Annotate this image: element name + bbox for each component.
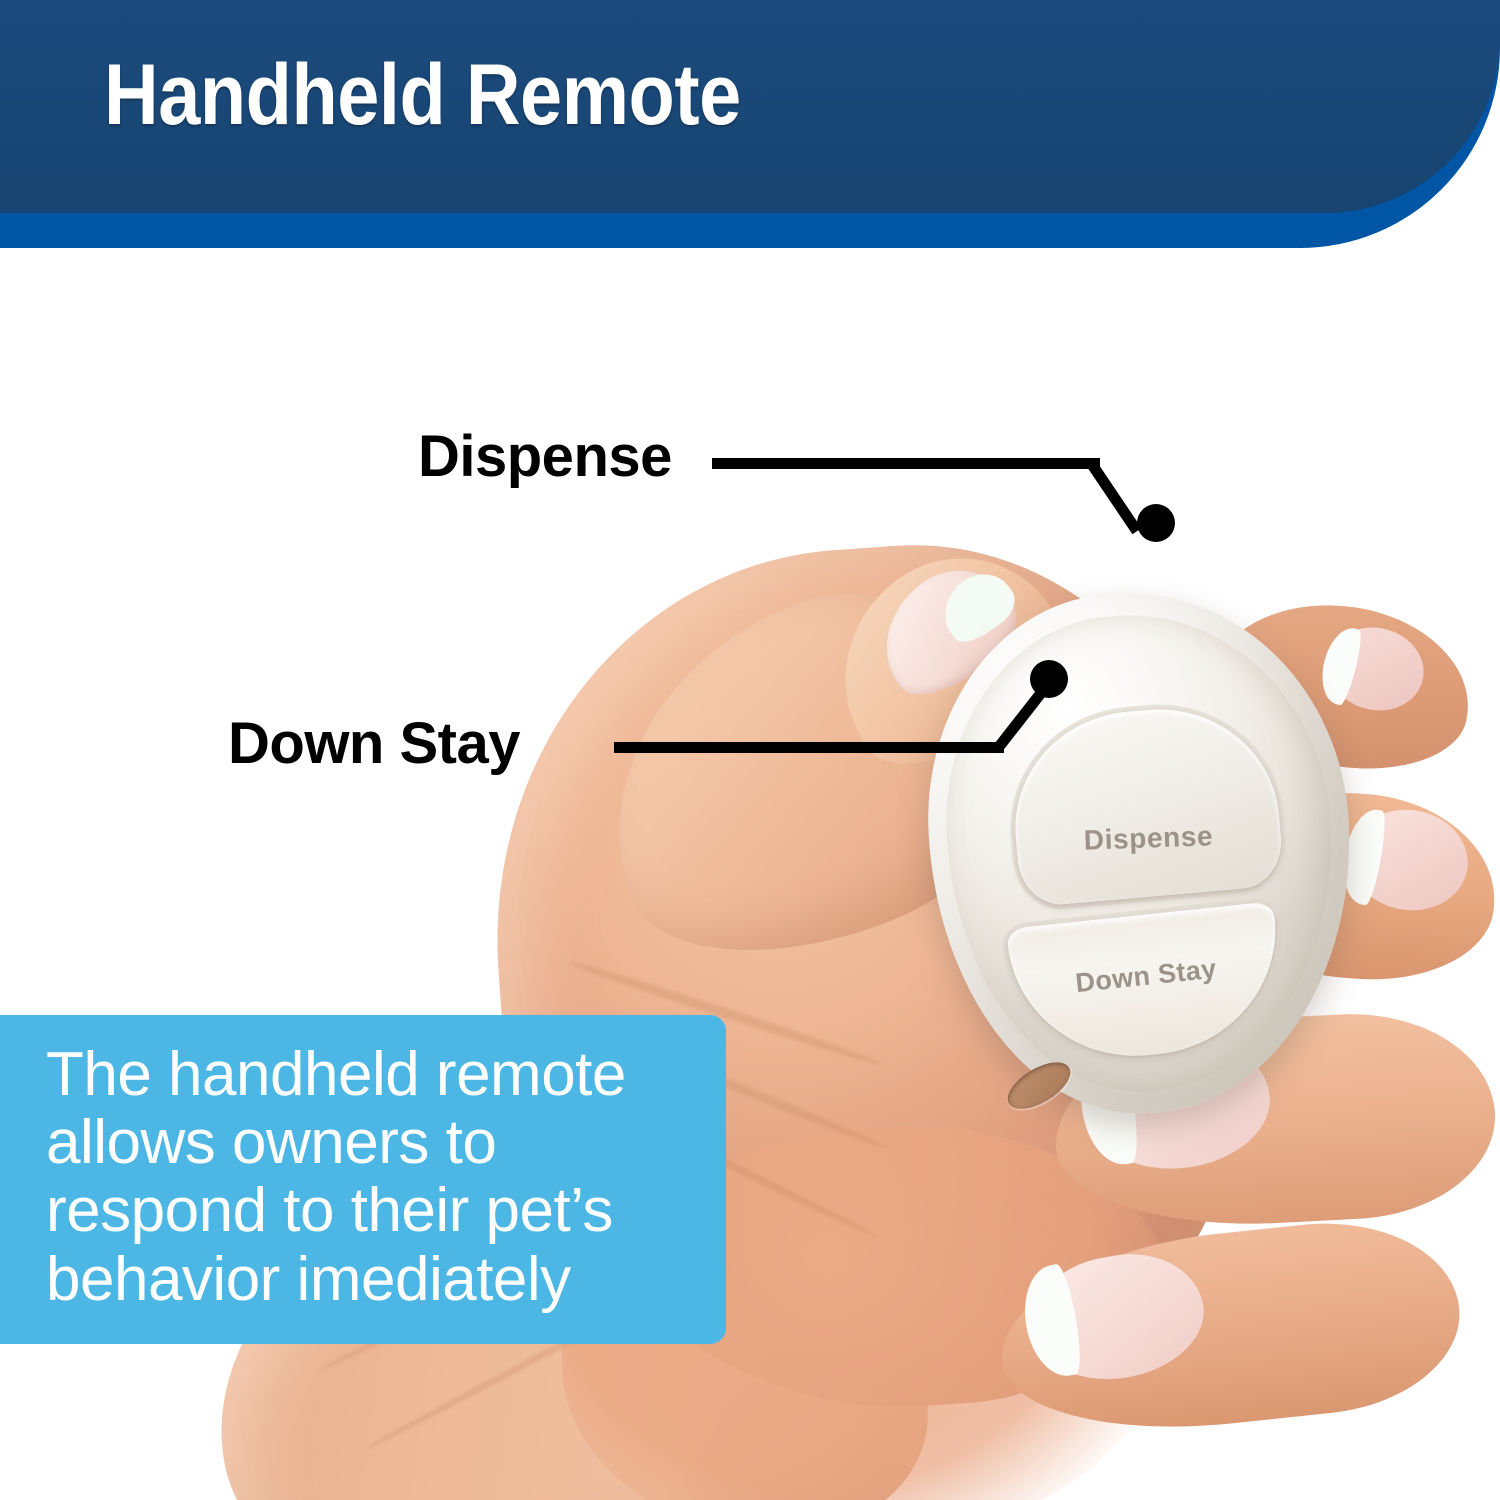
- callout-dot-down-stay: [1030, 660, 1068, 698]
- callout-label-dispense: Dispense: [418, 423, 672, 490]
- page-title: Handheld Remote: [104, 52, 741, 138]
- callout-line-down-stay-horizontal: [614, 742, 1004, 753]
- callout-line-dispense-diagonal: [1085, 458, 1141, 534]
- remote-button-down-stay-text: Down Stay: [1074, 954, 1218, 1000]
- callout-line-dispense-horizontal: [712, 458, 1100, 469]
- infographic-page: Handheld Remote Dispense: [0, 0, 1500, 1500]
- remote-button-dispense-label: Dispense: [1016, 818, 1281, 859]
- remote-button-down-stay-label: Down Stay: [1011, 947, 1281, 1006]
- callout-label-down-stay: Down Stay: [228, 710, 520, 777]
- callout-dot-dispense: [1137, 504, 1175, 542]
- caption-box: The handheld remote allows owners to res…: [0, 1015, 726, 1344]
